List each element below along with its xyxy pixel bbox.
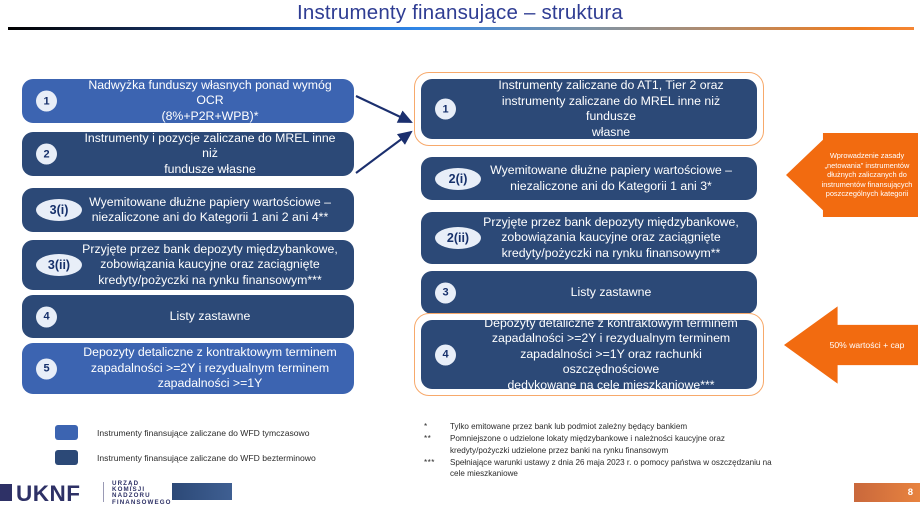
legend-item-tymczasowo: Instrumenty finansujące zaliczane do WFD… [55, 425, 310, 440]
logo-uknf: UKNF [16, 481, 81, 507]
footnote-2: ** Pomniejszone o udzielone lokaty międz… [424, 433, 894, 456]
footer-accent-block [172, 483, 232, 500]
footnotes: * Tylko emitowane przez bank lub podmiot… [424, 421, 894, 480]
right-box-1-text: Instrumenty zaliczane do AT1, Tier 2 ora… [421, 78, 757, 140]
right-box-1[interactable]: 1 Instrumenty zaliczane do AT1, Tier 2 o… [421, 79, 757, 139]
footnote-2-text: Pomniejszone o udzielone lokaty międzyba… [450, 433, 894, 456]
page-title: Instrumenty finansujące – struktura [0, 1, 920, 25]
logo-subtitle: URZĄD KOMISJI NADZORU FINANSOWEGO [112, 481, 172, 506]
right-box-2ii[interactable]: 2(ii) Przyjęte przez bank depozyty międz… [421, 212, 757, 264]
title-divider [8, 27, 914, 30]
right-box-3[interactable]: 3 Listy zastawne [421, 271, 757, 314]
right-box-2ii-badge: 2(ii) [435, 227, 481, 249]
left-box-4[interactable]: 4 Listy zastawne [22, 295, 354, 338]
right-box-4[interactable]: 4 Depozyty detaliczne z kontraktowym ter… [421, 320, 757, 389]
footnote-3-text: Spełniające warunki ustawy z dnia 26 maj… [450, 457, 894, 480]
footnote-2-mark: ** [424, 433, 450, 445]
page-number: 8 [854, 483, 920, 502]
callout-netowanie-text: Wprowadzenie zasady „netowania" instrume… [792, 151, 913, 199]
legend-swatch-dark [55, 450, 78, 465]
legend-swatch-light [55, 425, 78, 440]
footnote-3: *** Spełniające warunki ustawy z dnia 26… [424, 457, 894, 480]
left-box-5-badge: 5 [36, 358, 57, 379]
left-box-3ii-badge: 3(ii) [36, 254, 82, 276]
right-box-3-badge: 3 [435, 282, 456, 303]
left-box-2-text: Instrumenty i pozycje zaliczane do MREL … [22, 131, 354, 178]
right-box-2i[interactable]: 2(i) Wyemitowane dłużne papiery wartości… [421, 157, 757, 200]
footnote-1-text: Tylko emitowane przez bank lub podmiot z… [450, 421, 894, 433]
left-box-4-text: Listy zastawne [22, 309, 354, 325]
legend-label-bezterminowo: Instrumenty finansujące zaliczane do WFD… [97, 453, 316, 463]
callout-cap: 50% wartości + cap [784, 303, 918, 387]
right-box-4-badge: 4 [435, 344, 456, 365]
left-box-5-text: Depozyty detaliczne z kontraktowym termi… [22, 345, 354, 392]
left-box-1[interactable]: 1 Nadwyżka funduszy własnych ponad wymóg… [22, 79, 354, 123]
footnote-1-mark: * [424, 421, 450, 433]
left-box-3ii[interactable]: 3(ii) Przyjęte przez bank depozyty międz… [22, 240, 354, 290]
callout-cap-text: 50% wartości + cap [798, 340, 905, 350]
logo-divider [103, 482, 104, 502]
left-box-2-badge: 2 [36, 144, 57, 165]
left-box-1-text: Nadwyżka funduszy własnych ponad wymóg O… [22, 78, 354, 125]
left-box-3i-badge: 3(i) [36, 199, 82, 221]
callout-netowanie: Wprowadzenie zasady „netowania" instrume… [786, 133, 918, 217]
left-box-3i[interactable]: 3(i) Wyemitowane dłużne papiery wartości… [22, 188, 354, 232]
left-box-1-badge: 1 [36, 91, 57, 112]
right-box-2i-badge: 2(i) [435, 168, 481, 190]
legend-label-tymczasowo: Instrumenty finansujące zaliczane do WFD… [97, 428, 310, 438]
right-box-4-text: Depozyty detaliczne z kontraktowym termi… [421, 316, 757, 394]
footnote-1: * Tylko emitowane przez bank lub podmiot… [424, 421, 894, 433]
footnote-3-mark: *** [424, 457, 450, 469]
left-box-4-badge: 4 [36, 306, 57, 327]
legend-item-bezterminowo: Instrumenty finansujące zaliczane do WFD… [55, 450, 316, 465]
right-box-3-text: Listy zastawne [421, 285, 757, 301]
left-box-2[interactable]: 2 Instrumenty i pozycje zaliczane do MRE… [22, 132, 354, 176]
left-box-5[interactable]: 5 Depozyty detaliczne z kontraktowym ter… [22, 343, 354, 394]
logo-mark-icon [0, 484, 12, 501]
right-box-1-badge: 1 [435, 99, 456, 120]
